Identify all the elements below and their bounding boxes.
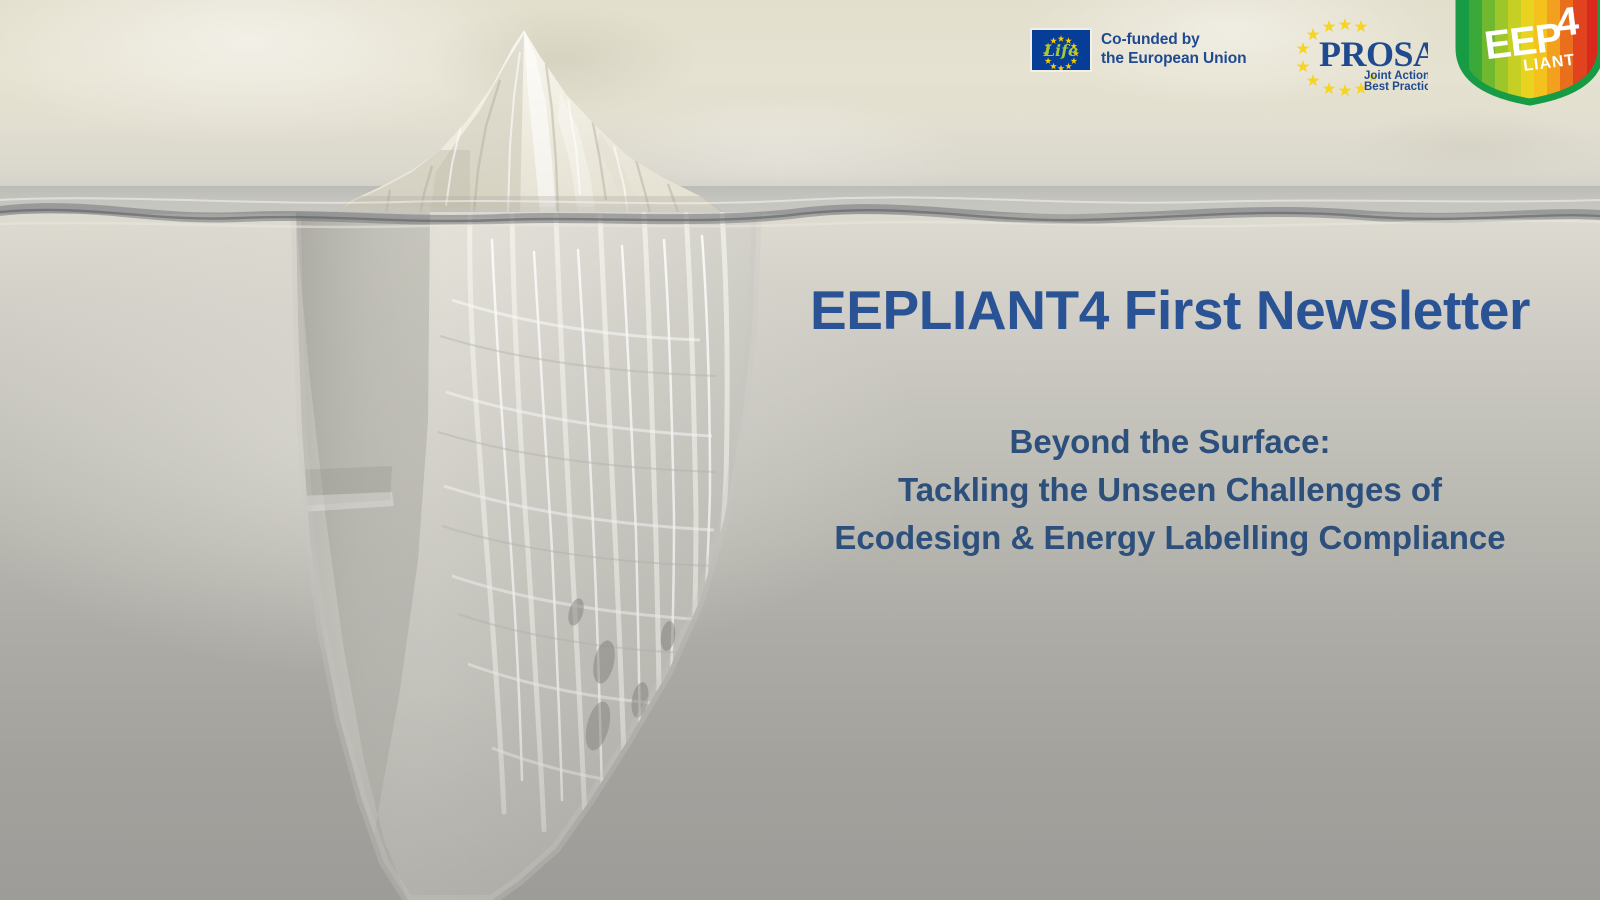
newsletter-cover: EEPLIANT4 First Newsletter Beyond the Su… [0,0,1600,900]
prosafe-wordmark: PROSAFE [1319,34,1428,74]
eu-caption-line-1: Co-funded by [1101,31,1246,50]
page-subtitle: Beyond the Surface: Tackling the Unseen … [770,418,1570,562]
eu-flag-icon: Life [1030,28,1092,72]
eepliant4-logo: EEP 4 LIANT [1455,0,1600,106]
eu-life-logo: Life Co-funded by the European Union [1030,28,1246,72]
eu-funding-caption: Co-funded by the European Union [1101,31,1246,69]
subtitle-line-1: Beyond the Surface: [770,418,1570,466]
subtitle-line-2: Tackling the Unseen Challenges of [770,466,1570,514]
subtitle-line-3: Ecodesign & Energy Labelling Compliance [770,514,1570,562]
eu-caption-line-2: the European Union [1101,50,1246,69]
waterline [0,186,1600,234]
page-title: EEPLIANT4 First Newsletter [770,282,1570,340]
life-wordmark: Life [1043,41,1078,60]
prosafe-logo: PROSAFE Joint Actions Best Practice [1283,18,1428,98]
prosafe-tagline-line-2: Best Practice [1364,81,1428,93]
